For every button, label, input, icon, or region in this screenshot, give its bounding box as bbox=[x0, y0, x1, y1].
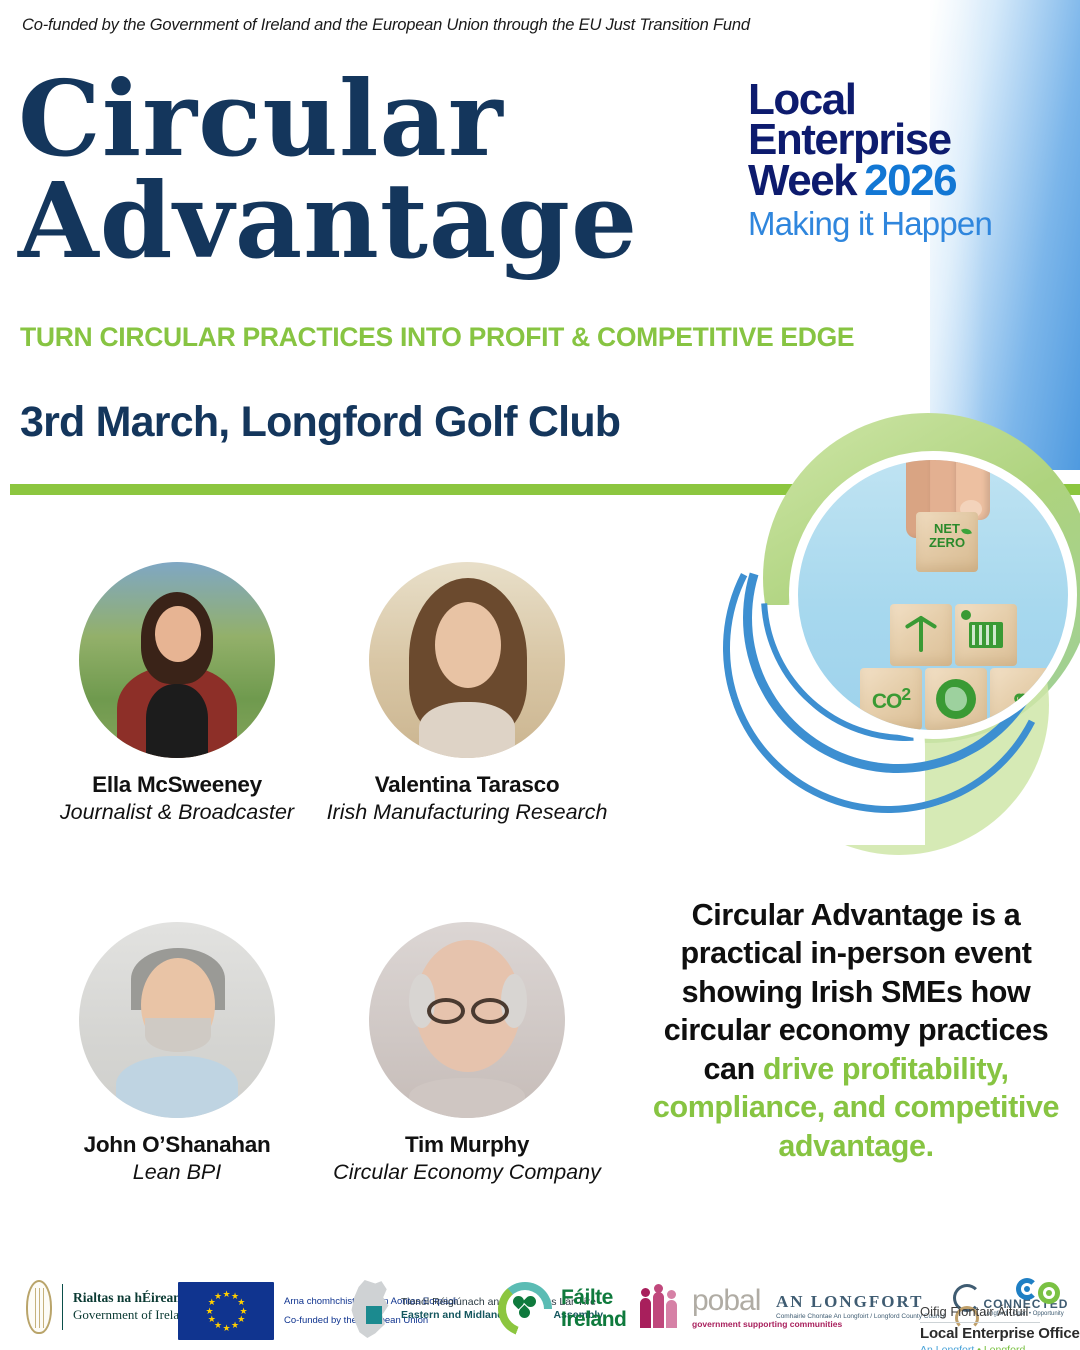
eu-star-icon: ★ bbox=[237, 1299, 244, 1306]
eu-star-icon: ★ bbox=[223, 1291, 230, 1298]
green-divider-notch bbox=[0, 484, 10, 495]
local-enterprise-week-logo: Local Enterprise Week2026 Making it Happ… bbox=[748, 80, 1048, 240]
leo-location-english: Longford bbox=[984, 1344, 1025, 1350]
page-title: Circular Advantage bbox=[18, 68, 738, 272]
failte-line-2: Ireland bbox=[561, 1309, 626, 1331]
logo-year: 2026 bbox=[864, 156, 956, 205]
avatar bbox=[79, 562, 275, 758]
leo-english-label: Local Enterprise Office bbox=[920, 1325, 1080, 1343]
speaker-card: John O’Shanahan Lean BPI bbox=[32, 922, 322, 1185]
government-of-ireland-logo: Rialtas na hÉireann Government of Irelan… bbox=[26, 1280, 192, 1334]
leo-divider bbox=[920, 1322, 1040, 1323]
net-zero-block: NET ZERO bbox=[916, 512, 978, 572]
local-enterprise-office-logo: Oifig Fiontair Áitiúil Local Enterprise … bbox=[920, 1278, 1080, 1350]
speaker-card: Valentina Tarasco Irish Manufacturing Re… bbox=[322, 562, 612, 825]
leo-irish-label: Oifig Fiontair Áitiúil bbox=[920, 1304, 1080, 1320]
wind-turbine-icon bbox=[890, 604, 952, 666]
divider bbox=[62, 1284, 63, 1330]
gov-irish-label: Rialtas na hÉireann bbox=[73, 1290, 192, 1307]
speaker-card: Ella McSweeney Journalist & Broadcaster bbox=[32, 562, 322, 825]
avatar bbox=[369, 562, 565, 758]
shamrock-circle-icon bbox=[498, 1282, 552, 1336]
eu-star-icon: ★ bbox=[223, 1325, 230, 1332]
avatar bbox=[369, 922, 565, 1118]
failte-line-1: Fáilte bbox=[561, 1287, 626, 1309]
leo-location-separator: • bbox=[977, 1344, 981, 1350]
shamrock-icon bbox=[512, 1296, 538, 1322]
speaker-name: Ella McSweeney bbox=[32, 772, 322, 798]
plug-leaf-icon: ⚭ bbox=[990, 668, 1052, 730]
funding-note: Co-funded by the Government of Ireland a… bbox=[22, 16, 1022, 35]
logo-line-week-year: Week2026 bbox=[748, 161, 1048, 201]
speaker-role: Irish Manufacturing Research bbox=[322, 800, 612, 825]
event-details: 3rd March, Longford Golf Club bbox=[20, 398, 620, 447]
net-zero-photo-circle: NET ZERO CO2 ⚭ 🌱 ♻ ⏻ bbox=[789, 451, 1077, 739]
eu-star-icon: ★ bbox=[208, 1316, 215, 1323]
harp-icon bbox=[26, 1280, 52, 1334]
speaker-name: Tim Murphy bbox=[322, 1132, 612, 1158]
failte-ireland-logo: Fáilte Ireland bbox=[498, 1282, 626, 1336]
speaker-role: Lean BPI bbox=[32, 1160, 322, 1185]
speaker-role: Circular Economy Company bbox=[322, 1160, 612, 1185]
poster-canvas: Co-funded by the Government of Ireland a… bbox=[0, 0, 1080, 1350]
eu-star-icon: ★ bbox=[214, 1293, 221, 1300]
co2-superscript: 2 bbox=[901, 684, 910, 704]
leo-location-irish: An Longfort bbox=[920, 1344, 974, 1350]
eu-flag-icon: ★★★★★★★★★★★★ bbox=[178, 1282, 274, 1340]
avatar bbox=[79, 922, 275, 1118]
ireland-map-icon bbox=[348, 1280, 392, 1338]
leo-green-o-icon bbox=[1038, 1282, 1060, 1304]
eu-star-icon: ★ bbox=[231, 1322, 238, 1329]
net-zero-line-2: ZERO bbox=[929, 535, 965, 550]
solar-panel-icon bbox=[955, 604, 1017, 666]
pobal-people-icon bbox=[638, 1284, 684, 1330]
speaker-name: John O’Shanahan bbox=[32, 1132, 322, 1158]
title-line-2: Advantage bbox=[18, 170, 738, 272]
leo-blue-c-icon bbox=[1016, 1278, 1038, 1300]
hero-image: NET ZERO CO2 ⚭ 🌱 ♻ ⏻ bbox=[735, 405, 1080, 825]
logo-line-enterprise: Enterprise bbox=[748, 120, 1048, 160]
footer-logo-strip: Rialtas na hÉireann Government of Irelan… bbox=[0, 1272, 1080, 1350]
co2-icon: CO2 bbox=[860, 668, 922, 730]
speaker-card: Tim Murphy Circular Economy Company bbox=[322, 922, 612, 1185]
leo-circles-icon bbox=[1016, 1278, 1080, 1302]
speaker-name: Valentina Tarasco bbox=[322, 772, 612, 798]
speaker-role: Journalist & Broadcaster bbox=[32, 800, 322, 825]
logo-line-local: Local bbox=[748, 80, 1048, 120]
co2-label: CO bbox=[872, 690, 902, 713]
gov-english-label: Government of Ireland bbox=[73, 1307, 192, 1323]
event-description: Circular Advantage is a practical in-per… bbox=[640, 896, 1072, 1165]
eu-star-icon: ★ bbox=[206, 1308, 213, 1315]
logo-week: Week bbox=[748, 156, 856, 205]
globe-icon bbox=[925, 668, 987, 730]
net-zero-label: NET ZERO bbox=[916, 522, 978, 549]
logo-tagline: Making it Happen bbox=[748, 209, 1048, 239]
subtitle: TURN CIRCULAR PRACTICES INTO PROFIT & CO… bbox=[20, 322, 970, 353]
block-row-middle: CO2 ⚭ bbox=[860, 668, 1052, 730]
block-row-top bbox=[890, 604, 1017, 666]
